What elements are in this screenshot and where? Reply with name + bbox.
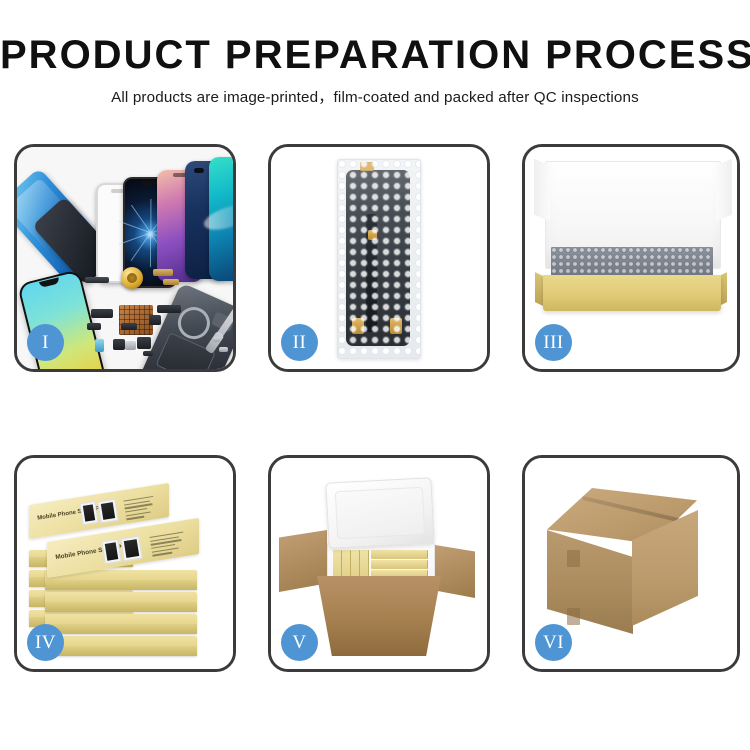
yellow-box-layer [371, 560, 428, 569]
panel-step-4[interactable]: Mobile Phone Spare Parts Mobile Phone Sp… [14, 455, 236, 672]
box-screen-image [120, 536, 142, 562]
product-preparation-infographic: PRODUCT PREPARATION PROCESS All products… [0, 0, 750, 750]
step-badge-3: III [535, 324, 572, 361]
step-badge-4: IV [27, 624, 64, 661]
spare-part [219, 347, 228, 352]
carton-tape-mark [567, 608, 580, 625]
panel-step-2[interactable]: II [268, 144, 490, 372]
spare-part [95, 339, 104, 352]
phone-teal [209, 157, 233, 281]
spare-part [85, 277, 109, 283]
bubble-wrap-bag [337, 159, 421, 359]
panel-step-5[interactable]: V [268, 455, 490, 672]
spare-part [213, 337, 220, 342]
process-step-grid: I II [0, 0, 750, 750]
carton-tape-mark [567, 550, 580, 567]
spare-part [125, 341, 136, 350]
gold-component [121, 267, 143, 289]
copper-chip-grid [119, 305, 153, 335]
panel-step-3[interactable]: III [522, 144, 740, 372]
yellow-box-layer [371, 550, 428, 559]
box-screen-image [97, 499, 118, 524]
spare-part [157, 305, 181, 313]
spare-part [121, 323, 137, 330]
spare-part [137, 337, 151, 349]
step-badge-6: VI [535, 624, 572, 661]
panel-step-1[interactable]: I [14, 144, 236, 372]
spare-part [113, 339, 125, 350]
stacked-box [45, 592, 197, 612]
box-screen-image [79, 501, 98, 525]
stacked-box [45, 614, 197, 634]
carton-body [317, 576, 441, 656]
panel-step-6[interactable]: VI [522, 455, 740, 672]
spare-part [149, 315, 161, 325]
spare-part [143, 351, 153, 356]
spare-part [91, 309, 113, 318]
step-badge-1: I [27, 324, 64, 361]
foam-lid [325, 477, 434, 548]
spare-part [87, 323, 101, 330]
box-screen-image [101, 539, 121, 564]
spare-part [163, 279, 179, 285]
box-front-yellow [543, 275, 721, 311]
stacked-box [45, 636, 197, 656]
step-badge-5: V [281, 624, 318, 661]
spare-part [153, 269, 173, 276]
step-badge-2: II [281, 324, 318, 361]
